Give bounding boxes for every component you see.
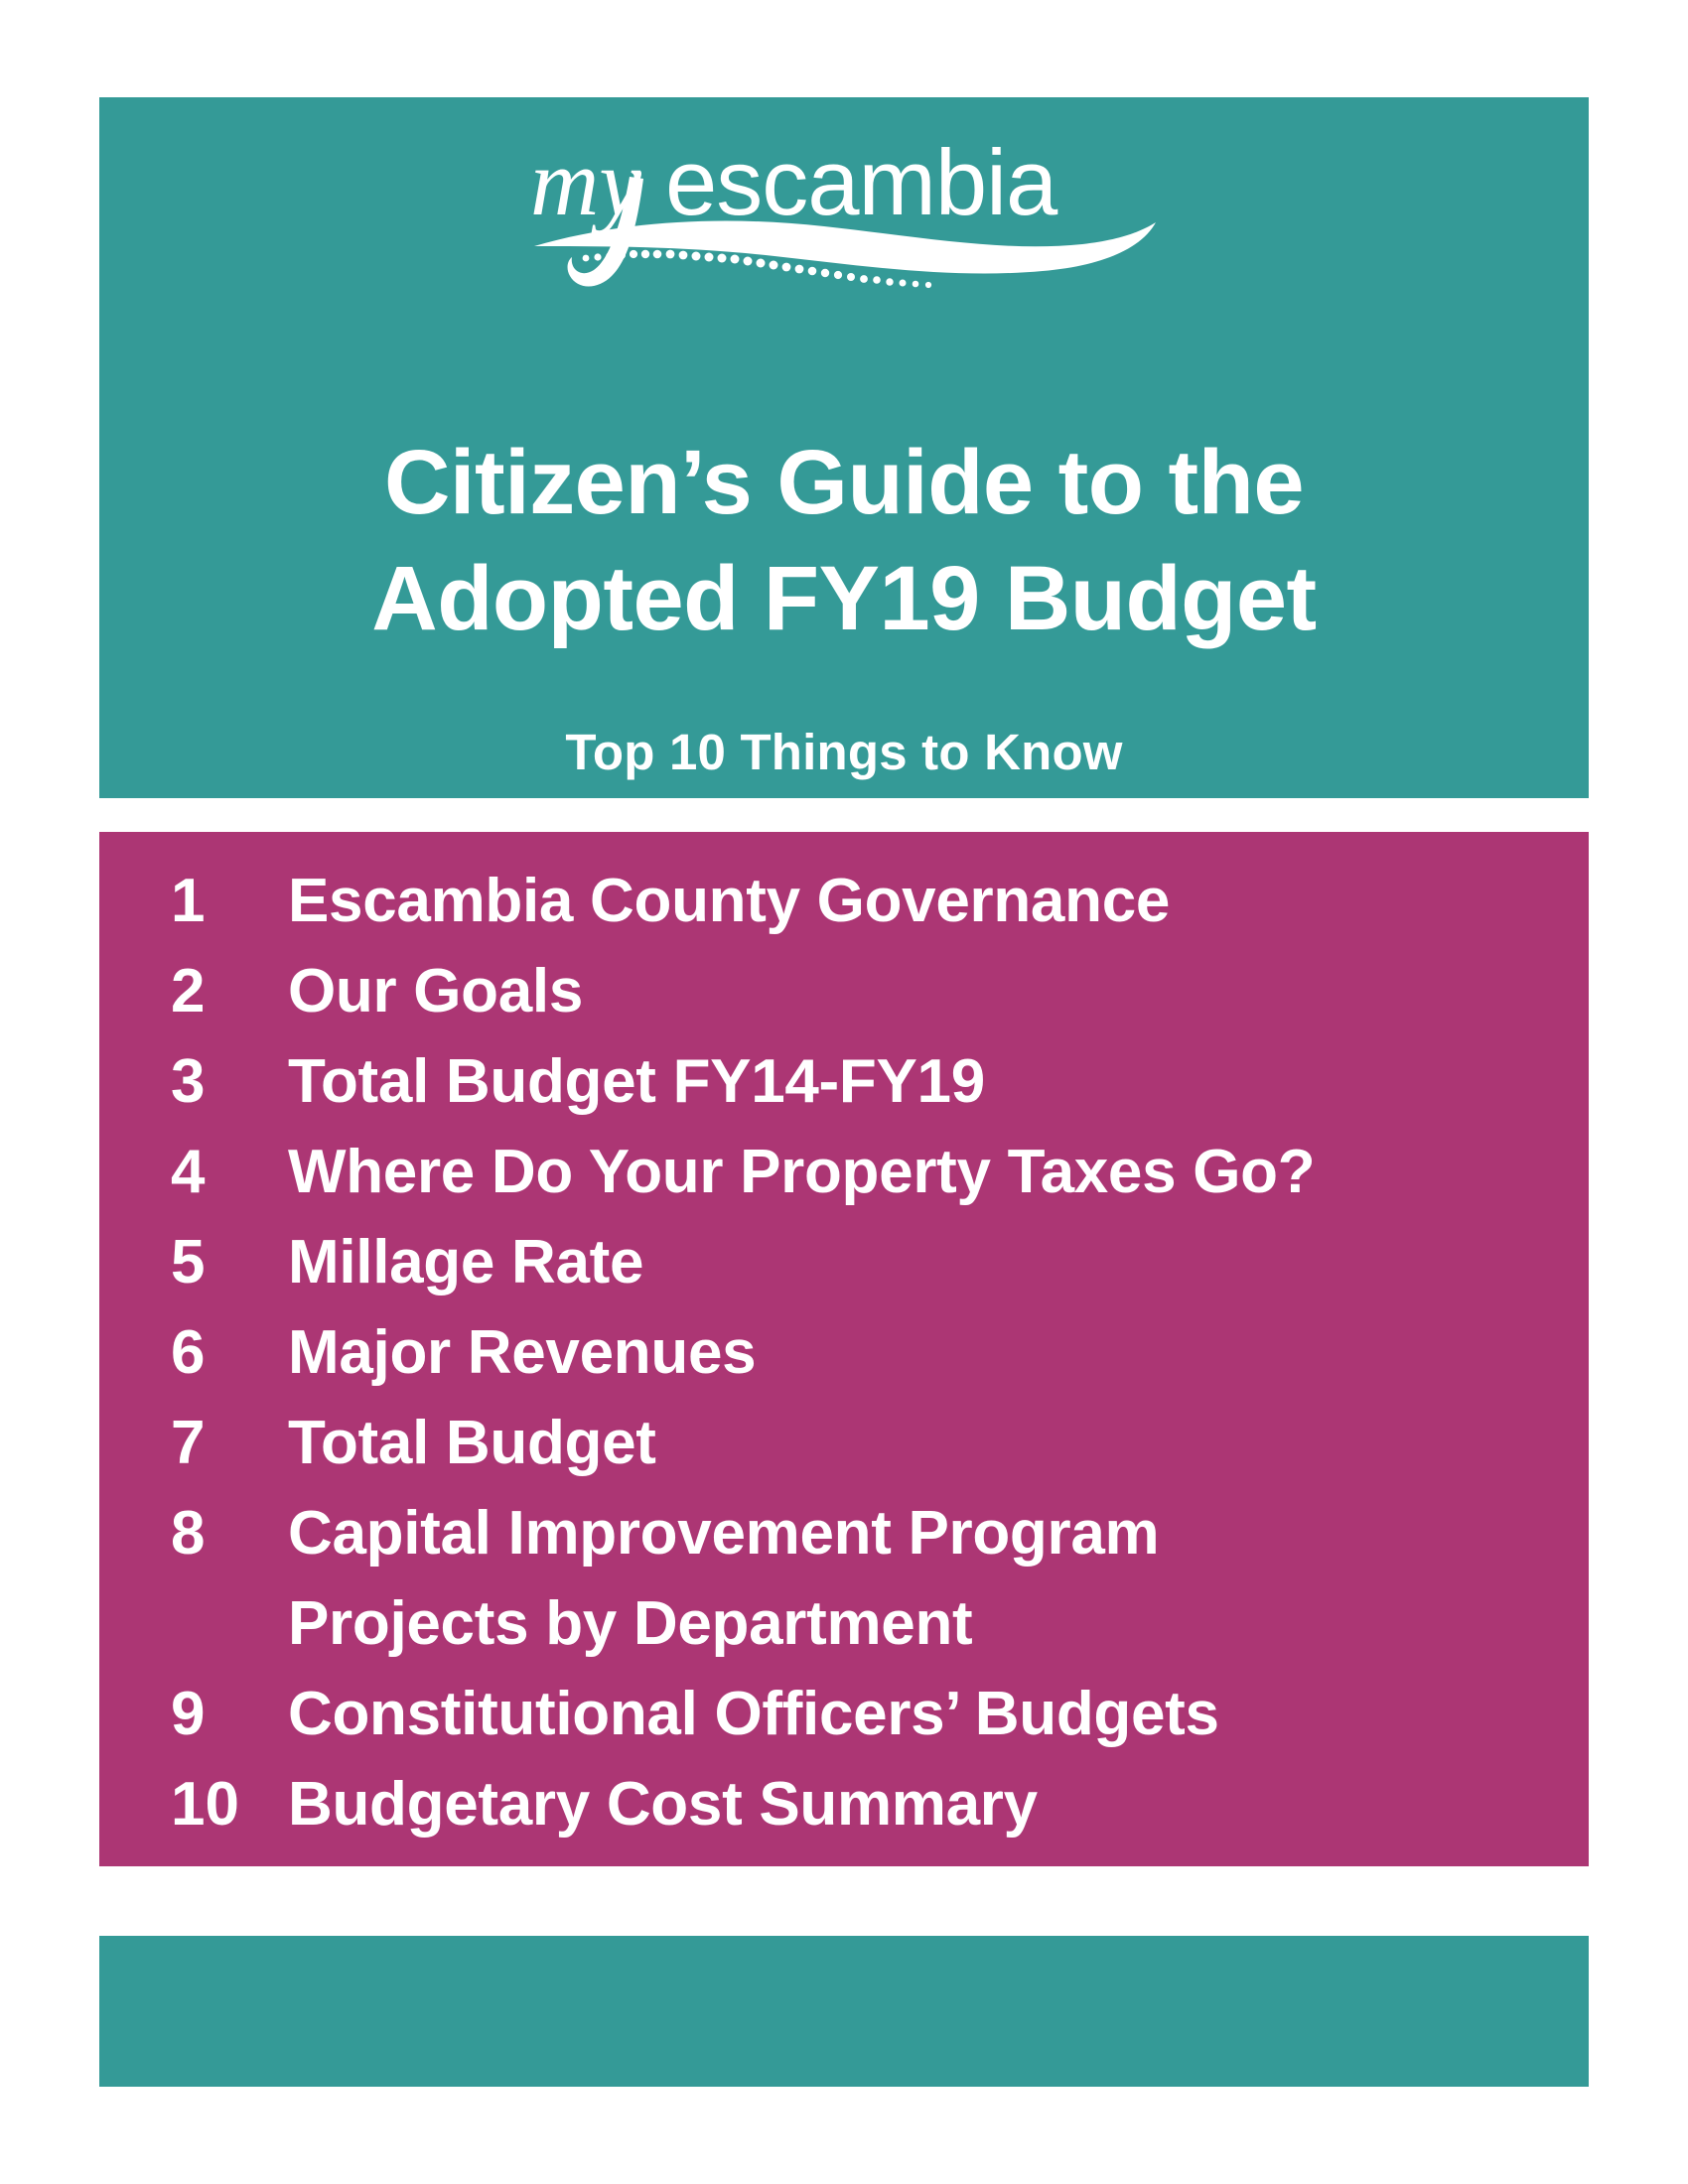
item-label: Total Budget FY14-FY19 [288,1036,1549,1127]
item-number: 1 [171,856,288,946]
item-label-text: Escambia County Governance [288,867,1170,935]
list-item[interactable]: 3 Total Budget FY14-FY19 [171,1036,1549,1127]
item-label: Millage Rate [288,1217,1549,1307]
list-item[interactable]: 9 Constitutional Officers’ Budgets [171,1669,1549,1759]
item-label: Major Revenues [288,1307,1549,1398]
item-number: 7 [171,1398,288,1488]
item-label: Constitutional Officers’ Budgets [288,1669,1549,1759]
item-number: 2 [171,946,288,1036]
item-label-text: Where Do Your Property Taxes Go? [288,1138,1315,1206]
list-item[interactable]: 8 Capital Improvement Program Projects b… [171,1488,1549,1669]
contents-list: 1 Escambia County Governance 2 Our Goals… [99,856,1589,1849]
logo-container: my escambia [99,119,1589,308]
footer-banner [99,1936,1589,2087]
list-item[interactable]: 5 Millage Rate [171,1217,1549,1307]
item-label: Our Goals [288,946,1549,1036]
item-label: Capital Improvement Program Projects by … [288,1488,1549,1669]
page-subtitle: Top 10 Things to Know [99,723,1589,782]
title-line-1: Citizen’s Guide to the [99,425,1589,541]
item-label-text: Constitutional Officers’ Budgets [288,1680,1219,1748]
list-item[interactable]: 6 Major Revenues [171,1307,1549,1398]
my-escambia-logo-icon: my escambia [526,119,1162,300]
title-line-2: Adopted FY19 Budget [99,541,1589,657]
list-item[interactable]: 1 Escambia County Governance [171,856,1549,946]
list-item[interactable]: 2 Our Goals [171,946,1549,1036]
item-number: 6 [171,1307,288,1398]
list-item[interactable]: 10 Budgetary Cost Summary [171,1759,1549,1849]
item-label-text: Total Budget [288,1409,656,1477]
item-label-text: Millage Rate [288,1228,643,1297]
item-label-text: Total Budget FY14-FY19 [288,1047,985,1116]
item-label: Where Do Your Property Taxes Go? [288,1127,1549,1217]
contents-panel: 1 Escambia County Governance 2 Our Goals… [99,832,1589,1866]
list-item[interactable]: 4 Where Do Your Property Taxes Go? [171,1127,1549,1217]
header-banner: my escambia [99,97,1589,798]
item-number: 9 [171,1669,288,1759]
cover-page: my escambia [0,0,1688,2184]
logo-block-word: escambia [665,130,1058,234]
list-item[interactable]: 7 Total Budget [171,1398,1549,1488]
page-title: Citizen’s Guide to the Adopted FY19 Budg… [99,425,1589,657]
item-number: 4 [171,1127,288,1217]
item-label-text: Capital Improvement Program [288,1499,1159,1568]
item-label-text: Major Revenues [288,1318,756,1387]
item-label: Escambia County Governance [288,856,1549,946]
item-label-text: Budgetary Cost Summary [288,1770,1038,1839]
item-label: Budgetary Cost Summary [288,1759,1549,1849]
item-number: 10 [171,1759,288,1849]
item-number: 5 [171,1217,288,1307]
item-label-text: Our Goals [288,957,583,1025]
item-number: 8 [171,1488,288,1578]
item-number: 3 [171,1036,288,1127]
item-label: Total Budget [288,1398,1549,1488]
item-label-continuation: Projects by Department [288,1578,1549,1669]
